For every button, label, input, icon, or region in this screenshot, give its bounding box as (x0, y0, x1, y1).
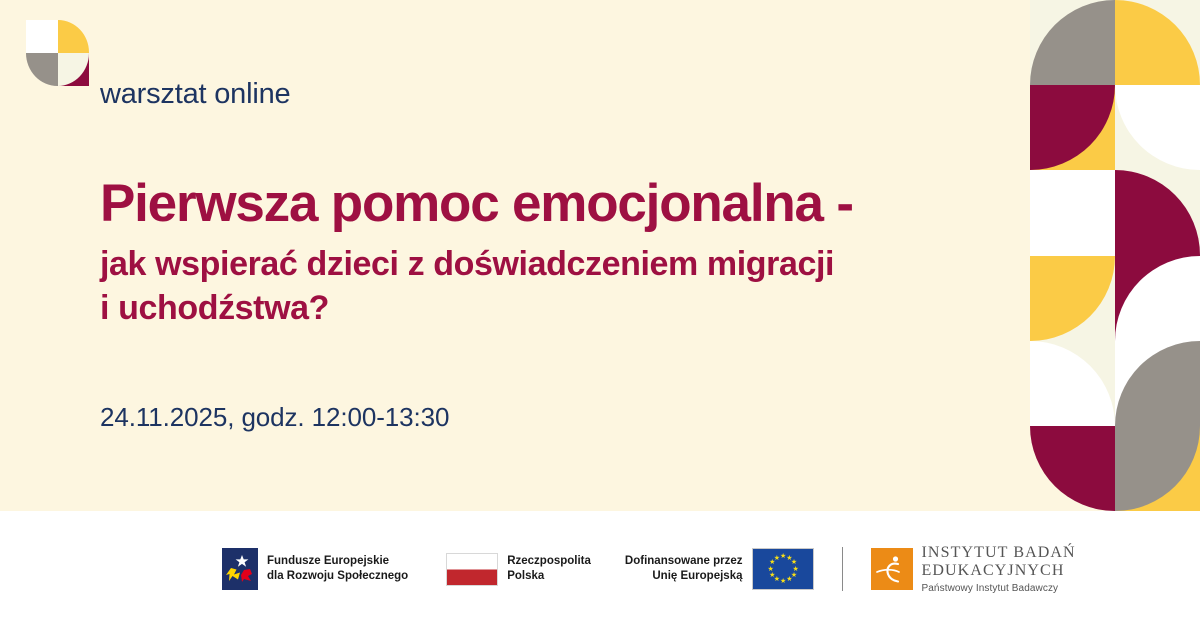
pattern-cell (1030, 426, 1115, 511)
logo-fundusze-europejskie-text: Fundusze Europejskie dla Rozwoju Społecz… (267, 554, 408, 584)
footer-logos: Fundusze Europejskie dla Rozwoju Społecz… (222, 511, 1076, 627)
decorative-pattern (1030, 0, 1200, 511)
eyebrow-label: warsztat online (100, 78, 290, 111)
footer-logo-strip: Fundusze Europejskie dla Rozwoju Społecz… (0, 511, 1200, 627)
footer-divider (842, 547, 843, 591)
logo-quadrant-bottom-left (26, 53, 58, 86)
event-datetime: 24.11.2025, godz. 12:00-13:30 (100, 402, 449, 433)
eu-flag-icon: ★★★★★★★★★★★★ (752, 548, 814, 590)
pattern-cell (1030, 0, 1115, 85)
pattern-cell (1115, 256, 1200, 341)
pattern-cell (1030, 170, 1115, 255)
pattern-cell (1115, 0, 1200, 85)
logo-fundusze-europejskie: Fundusze Europejskie dla Rozwoju Społecz… (222, 548, 408, 590)
eu-flag-star: ★ (793, 567, 798, 572)
pattern-cell (1030, 341, 1115, 426)
ibe-line-2: EDUKACYJNYCH (922, 562, 1076, 580)
logo-instytut-badan-edukacyjnych: INSTYTUT BADAŃ EDUKACYJNYCH Państwowy In… (871, 544, 1076, 594)
page-subtitle: jak wspierać dzieci z doświadczeniem mig… (100, 243, 1000, 330)
eu-line-2: Unię Europejską (625, 569, 743, 584)
pattern-cell (1115, 426, 1200, 511)
pattern-cell (1115, 85, 1200, 170)
eu-flag-star: ★ (791, 560, 796, 565)
pl-line-2: Polska (507, 569, 591, 584)
logo-quadrant-top-left (26, 20, 58, 53)
poland-flag-icon (446, 553, 498, 586)
fe-line-1: Fundusze Europejskie (267, 554, 408, 569)
dobrestart-logo-mark (26, 20, 89, 86)
eu-flag-star: ★ (780, 554, 785, 559)
eu-flag-star: ★ (769, 573, 774, 578)
eu-flag-star: ★ (774, 556, 779, 561)
logo-rzeczpospolita-polska-text: Rzeczpospolita Polska (507, 554, 591, 584)
ibe-logo-icon (871, 548, 913, 590)
pl-line-1: Rzeczpospolita (507, 554, 591, 569)
logo-quadrant-bottom-right (58, 53, 90, 86)
logo-dofinansowane-ue-text: Dofinansowane przez Unię Europejską (625, 554, 743, 584)
pattern-cell (1115, 170, 1200, 255)
poster-canvas: warsztat online Pierwsza pomoc emocjonal… (0, 0, 1200, 627)
pattern-cell (1030, 85, 1115, 170)
ibe-line-1: INSTYTUT BADAŃ (922, 544, 1076, 562)
fe-line-2: dla Rozwoju Społecznego (267, 569, 408, 584)
eu-flag-star: ★ (768, 567, 773, 572)
eu-flag-star: ★ (780, 579, 785, 584)
logo-rzeczpospolita-polska: Rzeczpospolita Polska (446, 553, 591, 586)
eu-flag-star: ★ (786, 577, 791, 582)
pattern-cell-arc (1030, 170, 1115, 255)
logo-dofinansowane-ue: Dofinansowane przez Unię Europejską ★★★★… (625, 548, 814, 590)
page-subtitle-line-1: jak wspierać dzieci z doświadczeniem mig… (100, 243, 1000, 287)
headline-block: Pierwsza pomoc emocjonalna - jak wspiera… (100, 176, 1000, 330)
ibe-line-3: Państwowy Instytut Badawczy (922, 583, 1076, 594)
logo-quadrant-top-right (58, 20, 90, 53)
page-title: Pierwsza pomoc emocjonalna - (100, 176, 1000, 231)
page-subtitle-line-2: i uchodźstwa? (100, 287, 1000, 331)
eu-funds-stars-icon (222, 548, 258, 590)
hero-band: warsztat online Pierwsza pomoc emocjonal… (0, 0, 1200, 511)
pattern-cell (1030, 256, 1115, 341)
eu-line-1: Dofinansowane przez (625, 554, 743, 569)
pattern-cell (1115, 341, 1200, 426)
logo-ibe-text: INSTYTUT BADAŃ EDUKACYJNYCH Państwowy In… (922, 544, 1076, 594)
